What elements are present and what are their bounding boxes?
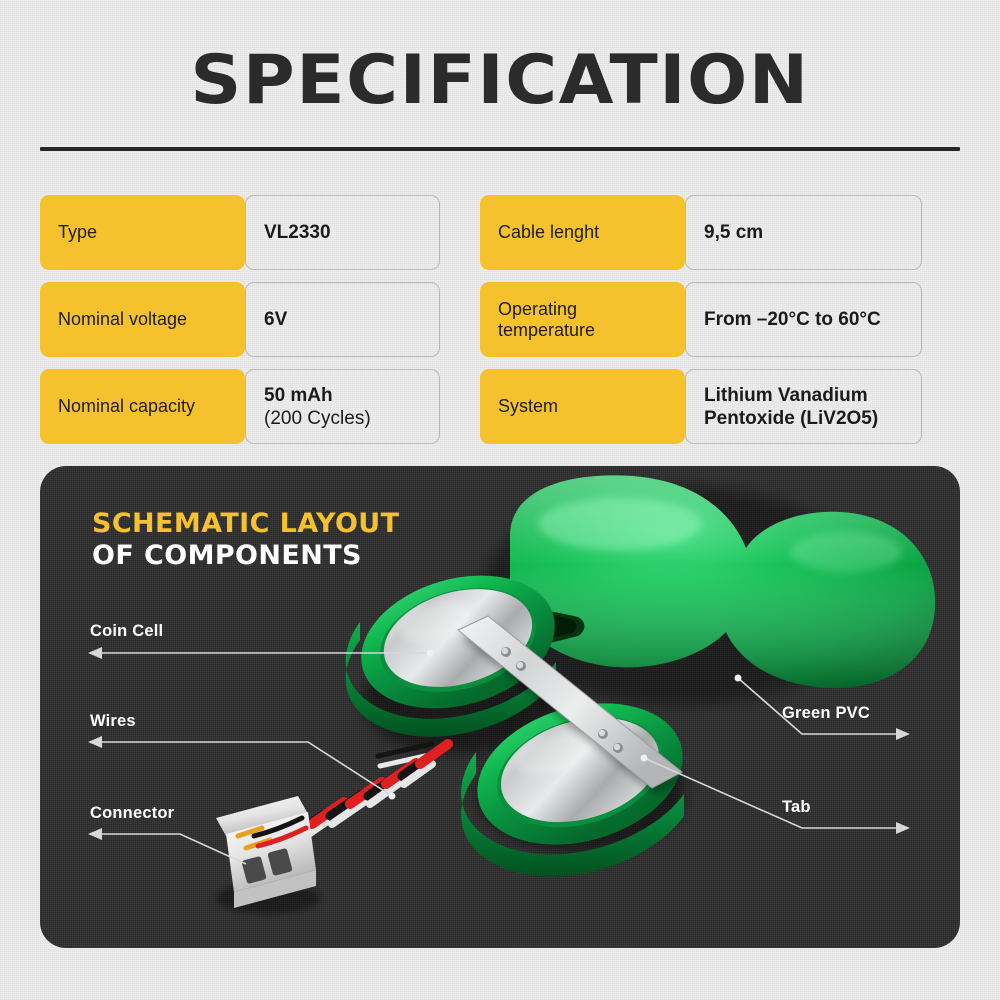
- spec-label-nominal-voltage: Nominal voltage: [40, 282, 245, 357]
- spec-label-type: Type: [40, 195, 245, 270]
- spec-value-text: From –20°C to 60°C: [704, 309, 881, 330]
- title-divider: [40, 147, 960, 151]
- spec-value-type: VL2330: [245, 195, 440, 270]
- spec-value-text: 50 mAh: [264, 385, 333, 406]
- spec-value-cable-lenght: 9,5 cm: [685, 195, 922, 270]
- spec-value-text: VL2330: [264, 222, 331, 243]
- spec-value-text: 6V: [264, 309, 287, 330]
- spec-label-operating-temperature: Operating temperature: [480, 282, 685, 357]
- spec-value-text: 9,5 cm: [704, 222, 763, 243]
- spec-value-system: Lithium Vanadium Pentoxide (LiV2O5): [685, 369, 922, 444]
- callout-labels: Coin Cell Wires Connector Green PVC Tab: [40, 466, 960, 948]
- specification-table: Type VL2330 Cable lenght 9,5 cm Nominal …: [40, 195, 962, 444]
- spec-label-text: Cable lenght: [498, 222, 599, 243]
- spec-label-text: Nominal voltage: [58, 309, 187, 330]
- spec-label-system: System: [480, 369, 685, 444]
- specification-page: SPECIFICATION Type VL2330 Cable lenght 9…: [0, 0, 1000, 1000]
- spec-value-text: Lithium Vanadium: [704, 385, 868, 406]
- column-gap: [440, 369, 480, 444]
- spec-value-subtext: Pentoxide (LiV2O5): [704, 408, 878, 429]
- spec-label-nominal-capacity: Nominal capacity: [40, 369, 245, 444]
- spec-label-text: Operating temperature: [498, 299, 667, 341]
- spec-label-text: Nominal capacity: [58, 396, 195, 417]
- spec-value-subtext: (200 Cycles): [264, 408, 371, 429]
- spec-label-text: Type: [58, 222, 97, 243]
- callout-label-coin-cell: Coin Cell: [90, 622, 163, 641]
- callout-label-connector: Connector: [90, 804, 174, 823]
- spec-value-nominal-capacity: 50 mAh (200 Cycles): [245, 369, 440, 444]
- spec-value-nominal-voltage: 6V: [245, 282, 440, 357]
- callout-label-green-pvc: Green PVC: [782, 704, 870, 723]
- spec-value-operating-temperature: From –20°C to 60°C: [685, 282, 922, 357]
- callout-label-tab: Tab: [782, 798, 811, 817]
- spec-label-text: System: [498, 396, 558, 417]
- schematic-panel: SCHEMATIC LAYOUT OF COMPONENTS: [40, 466, 960, 948]
- page-title: SPECIFICATION: [0, 46, 1000, 116]
- column-gap: [440, 195, 480, 270]
- column-gap: [440, 282, 480, 357]
- callout-label-wires: Wires: [90, 712, 136, 731]
- spec-label-cable-lenght: Cable lenght: [480, 195, 685, 270]
